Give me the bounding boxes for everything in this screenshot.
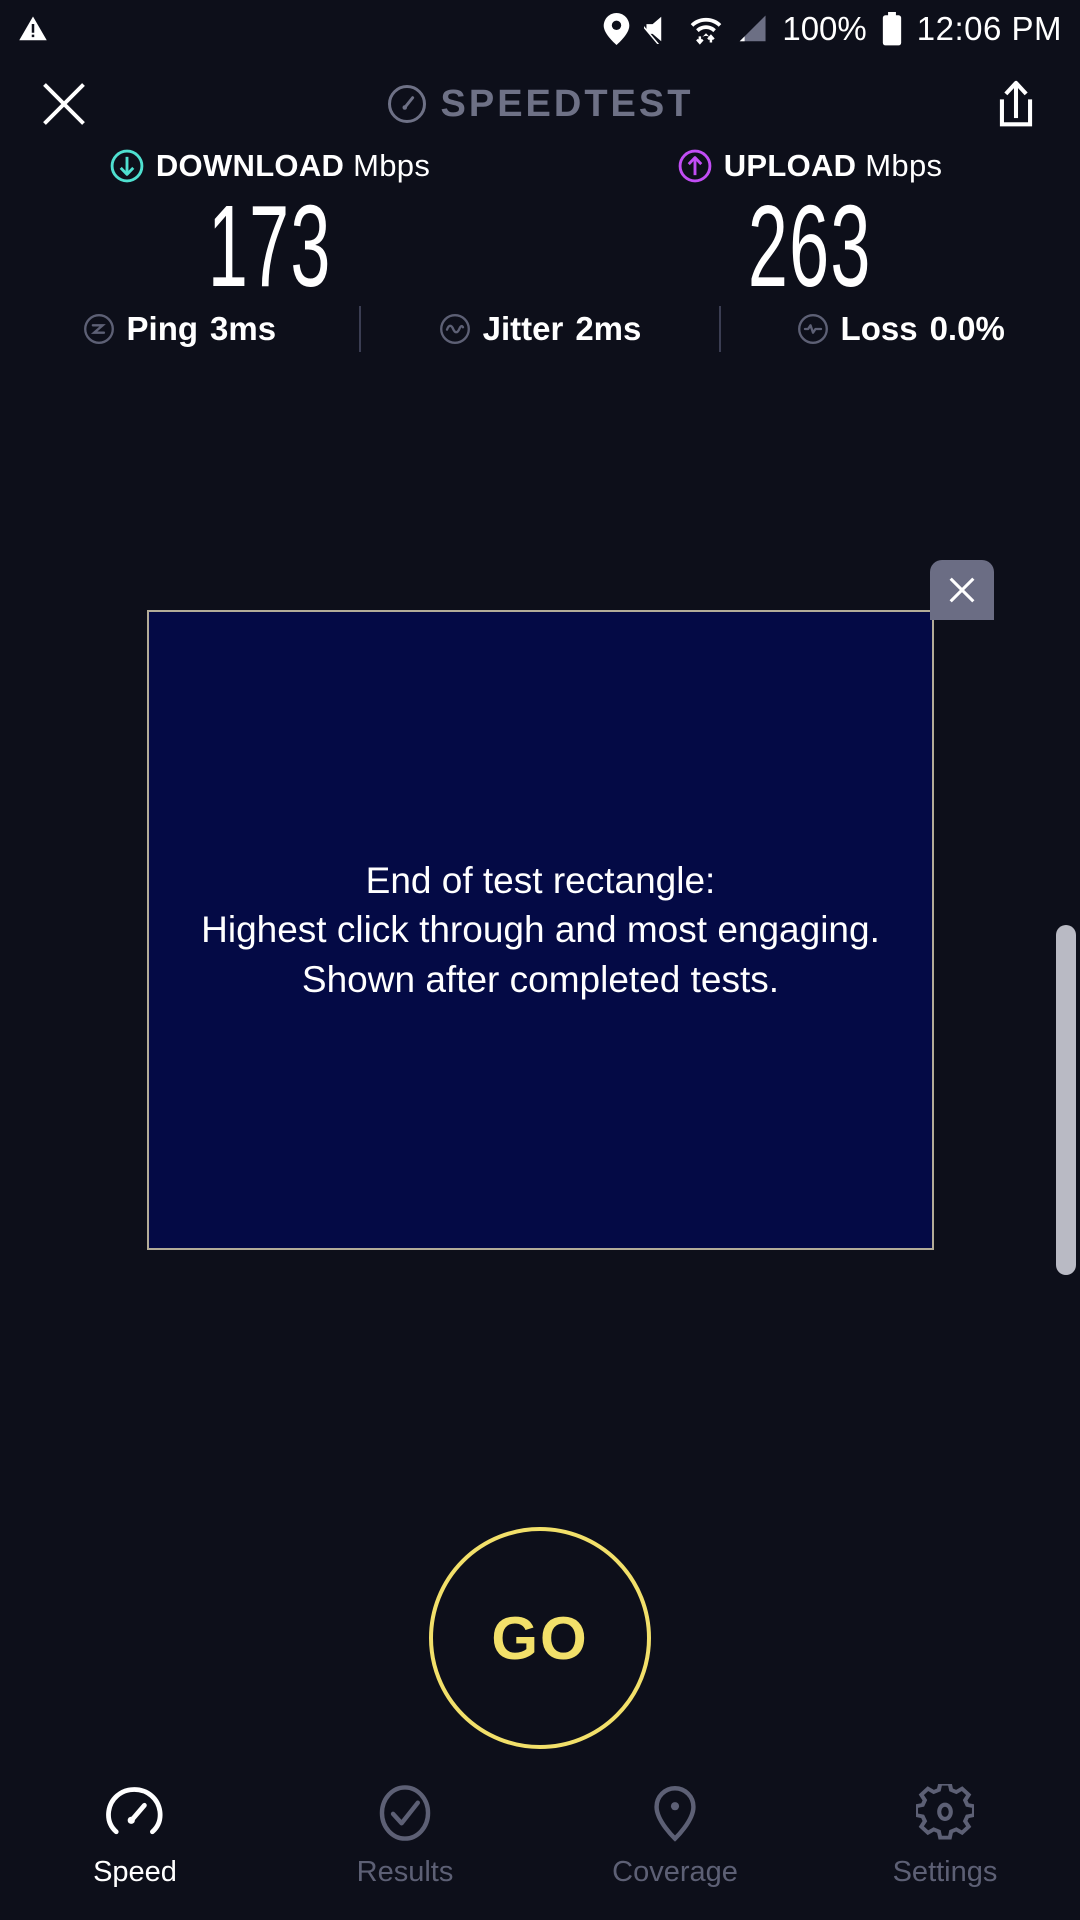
ping-icon	[83, 313, 115, 345]
bottom-navigation: Speed Results Coverage	[0, 1770, 1080, 1920]
metric-jitter-value: 2ms	[575, 310, 641, 348]
advertisement: End of test rectangle: Highest click thr…	[147, 610, 934, 1250]
go-button[interactable]: GO	[429, 1527, 651, 1749]
upload-arrow-icon	[678, 149, 712, 183]
nav-label-coverage: Coverage	[612, 1856, 738, 1889]
share-button[interactable]	[988, 76, 1044, 132]
loss-icon	[797, 313, 829, 345]
ad-text: End of test rectangle: Highest click thr…	[181, 856, 900, 1004]
nav-item-speed[interactable]: Speed	[0, 1784, 270, 1889]
status-bar-left	[18, 14, 48, 44]
battery-full-icon	[881, 12, 903, 46]
ad-close-button[interactable]	[930, 560, 994, 620]
warning-triangle-icon	[18, 14, 48, 44]
jitter-icon	[439, 313, 471, 345]
metric-loss-value: 0.0%	[930, 310, 1005, 348]
upload-value: 263	[748, 188, 872, 304]
ad-text-line-2: Highest click through and most engaging.	[201, 905, 880, 954]
app-header: SPEEDTEST	[0, 58, 1080, 150]
speedtest-app-screen: 100% 12:06 PM SP	[0, 0, 1080, 1920]
metrics-row: Ping 3ms Jitter 2ms Loss 0.0%	[0, 300, 1080, 358]
nav-item-settings[interactable]: Settings	[810, 1784, 1080, 1889]
download-arrow-icon	[110, 149, 144, 183]
cell-signal-icon	[736, 14, 768, 44]
download-value: 173	[208, 188, 332, 304]
gauge-icon	[106, 1784, 164, 1842]
metric-jitter: Jitter 2ms	[361, 310, 720, 348]
mute-icon	[644, 14, 676, 44]
download-result: DOWNLOAD Mbps 173	[0, 148, 540, 304]
nav-label-results: Results	[357, 1856, 454, 1889]
upload-result: UPLOAD Mbps 263	[540, 148, 1080, 304]
speedtest-gauge-icon	[387, 84, 427, 124]
go-button-label: GO	[491, 1604, 588, 1673]
results-panel: DOWNLOAD Mbps 173 UPLOAD Mbps 263	[0, 148, 1080, 304]
ad-text-line-3: Shown after completed tests.	[201, 955, 880, 1004]
status-bar-right: 100% 12:06 PM	[603, 10, 1062, 48]
download-label-row: DOWNLOAD Mbps	[110, 148, 430, 184]
nav-item-results[interactable]: Results	[270, 1784, 540, 1889]
nav-item-coverage[interactable]: Coverage	[540, 1784, 810, 1889]
app-title-text: SPEEDTEST	[441, 83, 694, 126]
metric-ping-label: Ping	[127, 310, 199, 348]
gear-icon	[916, 1784, 974, 1842]
results-row: DOWNLOAD Mbps 173 UPLOAD Mbps 263	[0, 148, 1080, 304]
status-bar-clock: 12:06 PM	[917, 10, 1062, 48]
check-circle-icon	[376, 1784, 434, 1842]
scrollbar-thumb[interactable]	[1056, 925, 1076, 1275]
close-button[interactable]	[36, 76, 92, 132]
metric-ping: Ping 3ms	[0, 310, 359, 348]
ad-banner[interactable]: End of test rectangle: Highest click thr…	[147, 610, 934, 1250]
metric-jitter-label: Jitter	[483, 310, 564, 348]
map-pin-icon	[646, 1784, 704, 1842]
metric-ping-value: 3ms	[210, 310, 276, 348]
wifi-icon	[690, 13, 722, 45]
metric-loss-label: Loss	[841, 310, 918, 348]
location-pin-icon	[603, 13, 630, 45]
app-title: SPEEDTEST	[0, 83, 1080, 126]
upload-label: UPLOAD Mbps	[724, 148, 943, 184]
upload-label-row: UPLOAD Mbps	[678, 148, 943, 184]
download-label: DOWNLOAD Mbps	[156, 148, 430, 184]
nav-label-settings: Settings	[893, 1856, 998, 1889]
metric-loss: Loss 0.0%	[721, 310, 1080, 348]
status-bar: 100% 12:06 PM	[0, 0, 1080, 58]
battery-percent-label: 100%	[782, 10, 866, 48]
nav-label-speed: Speed	[93, 1856, 177, 1889]
ad-text-line-1: End of test rectangle:	[201, 856, 880, 905]
